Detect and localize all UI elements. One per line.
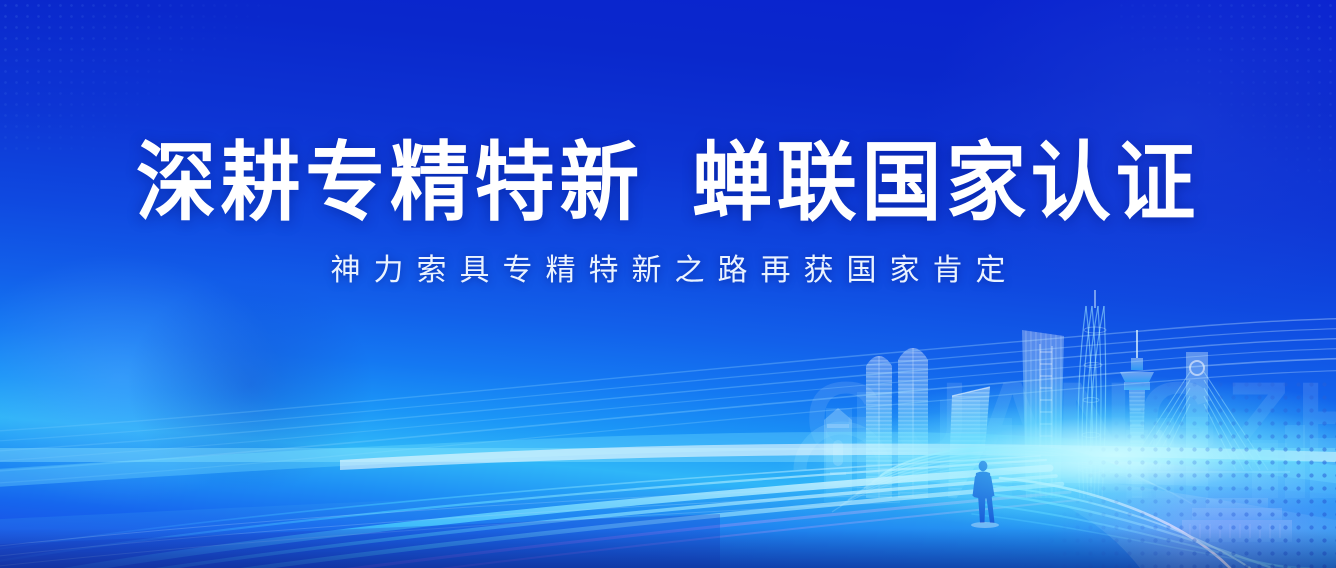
page-title: 深耕专精特新蝉联国家认证 bbox=[47, 0, 1289, 226]
banner-text-block: 深耕专精特新蝉联国家认证 神力索具专精特新之路再获国家肯定 bbox=[0, 0, 1336, 286]
promo-banner: GUANGZHOU bbox=[0, 0, 1336, 568]
subtitle: 神力索具专精特新之路再获国家肯定 bbox=[0, 226, 1336, 286]
headline-part-1: 深耕专精特新 bbox=[136, 135, 644, 231]
headline-part-2: 蝉联国家认证 bbox=[692, 135, 1200, 231]
